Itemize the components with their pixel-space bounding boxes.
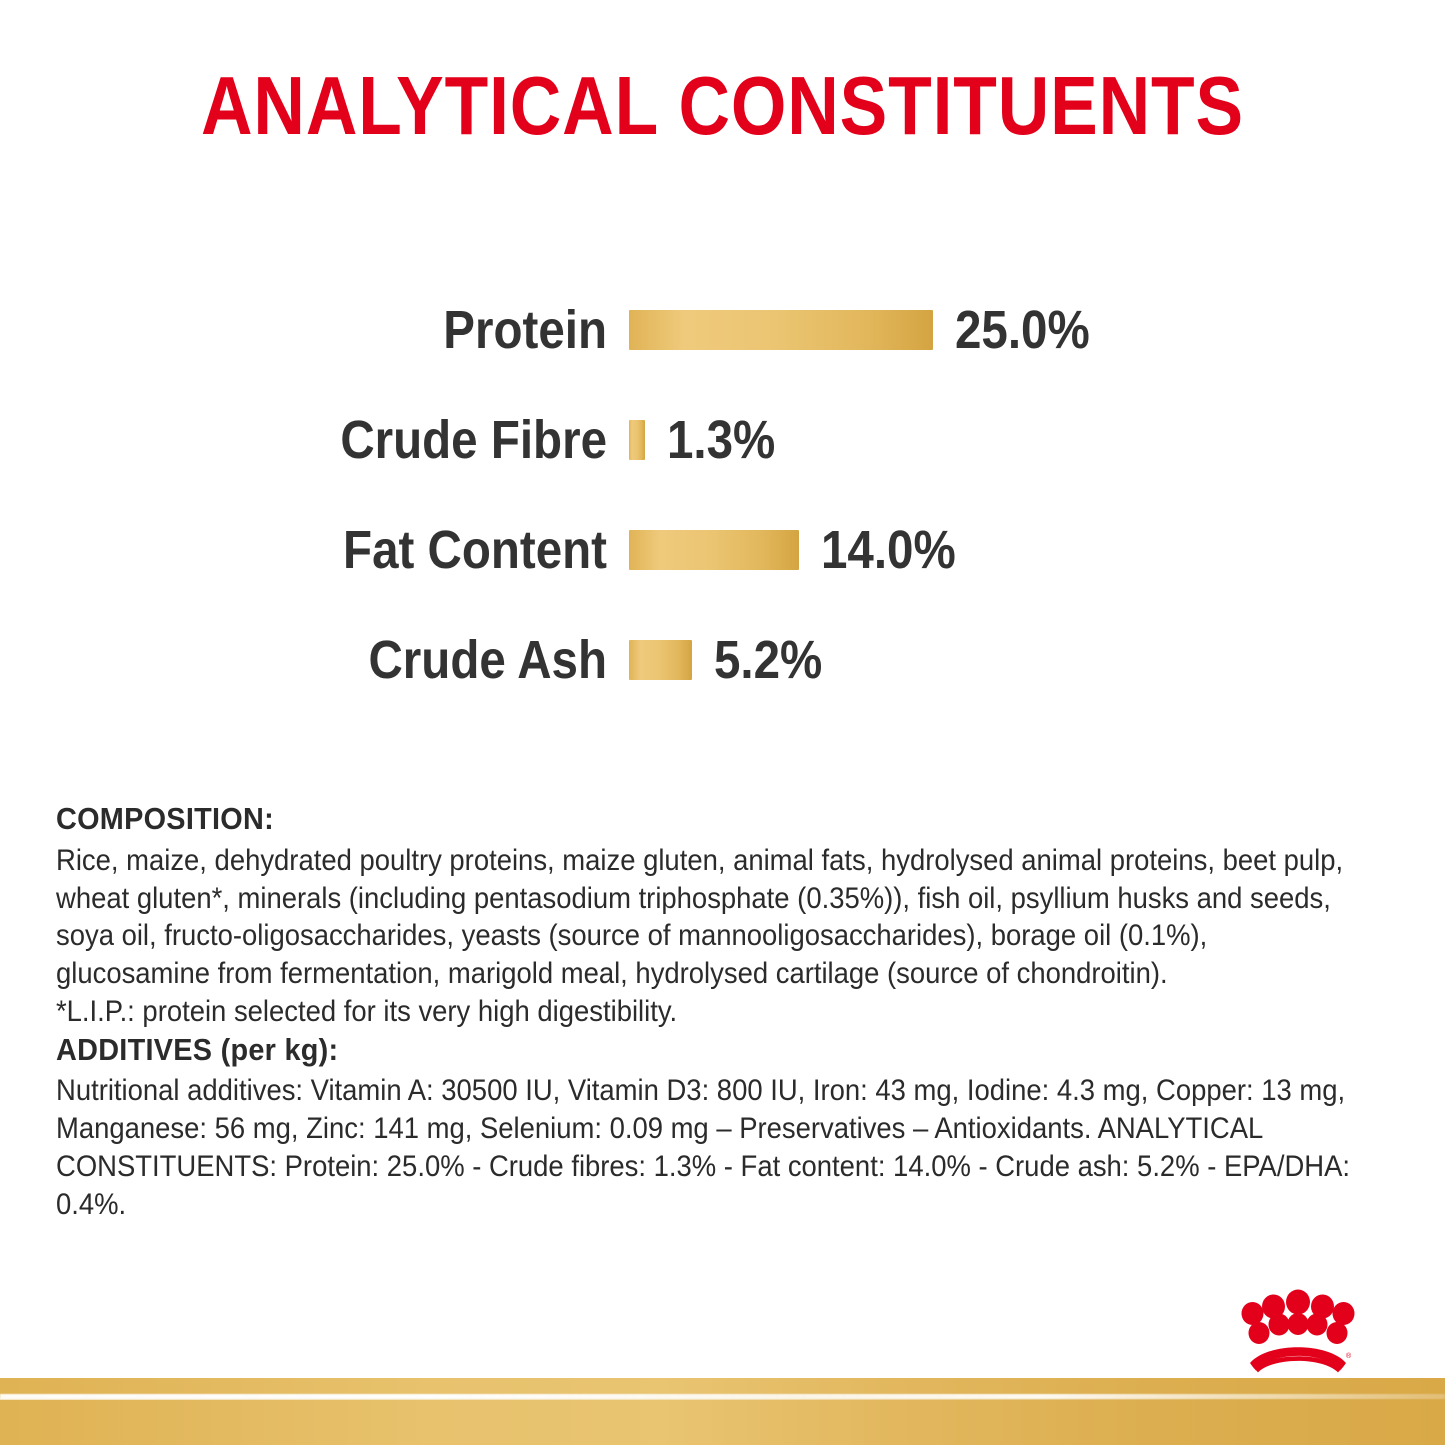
chart-row: Crude Fibre 1.3% <box>0 385 1445 495</box>
royal-canin-crown-logo: ® <box>1238 1288 1358 1376</box>
constituent-value-crude-ash: 5.2% <box>714 633 822 687</box>
product-info-panel: ANALYTICAL CONSTITUENTS Protein 25.0% Cr… <box>0 0 1445 1445</box>
additives-line-2: Manganese: 56 mg, Zinc: 141 mg, Selenium… <box>56 1110 1386 1148</box>
additives-line-4: 0.4%. <box>56 1186 1386 1224</box>
constituent-value-crude-fibre: 1.3% <box>667 413 775 467</box>
composition-line-3: soya oil, fructo-oligosaccharides, yeast… <box>56 917 1386 955</box>
analytical-constituents-chart: Protein 25.0% Crude Fibre 1.3% Fat Conte… <box>0 275 1445 715</box>
chart-row: Crude Ash 5.2% <box>0 605 1445 715</box>
composition-line-1: Rice, maize, dehydrated poultry proteins… <box>56 842 1386 880</box>
band-white-streak-secondary <box>0 1398 1272 1400</box>
ingredients-text-block: COMPOSITION: Rice, maize, dehydrated pou… <box>56 800 1386 1223</box>
additives-line-3: CONSTITUENTS: Protein: 25.0% - Crude fib… <box>56 1148 1386 1186</box>
constituent-bar-crude-fibre <box>629 420 645 460</box>
bottom-gold-band <box>0 1378 1445 1445</box>
registered-trademark-mark: ® <box>1346 1352 1352 1360</box>
additives-line-1: Nutritional additives: Vitamin A: 30500 … <box>56 1072 1386 1110</box>
composition-line-4: glucosamine from fermentation, marigold … <box>56 955 1386 993</box>
page-title: ANALYTICAL CONSTITUENTS <box>101 62 1344 149</box>
composition-line-2: wheat gluten*, minerals (including penta… <box>56 880 1386 918</box>
constituent-bar-crude-ash <box>629 640 692 680</box>
composition-footnote: *L.I.P.: protein selected for its very h… <box>56 993 1386 1031</box>
composition-heading: COMPOSITION: <box>56 800 1293 839</box>
constituent-bar-fat-content <box>629 530 799 570</box>
constituent-label-protein: Protein <box>73 303 607 357</box>
additives-heading: ADDITIVES (per kg): <box>56 1031 1293 1070</box>
chart-row: Fat Content 14.0% <box>0 495 1445 605</box>
constituent-label-crude-fibre: Crude Fibre <box>73 413 607 467</box>
constituent-label-fat-content: Fat Content <box>73 523 607 577</box>
constituent-value-fat-content: 14.0% <box>821 523 956 577</box>
constituent-label-crude-ash: Crude Ash <box>73 633 607 687</box>
constituent-value-protein: 25.0% <box>955 303 1090 357</box>
chart-row: Protein 25.0% <box>0 275 1445 385</box>
constituent-bar-protein <box>629 310 933 350</box>
